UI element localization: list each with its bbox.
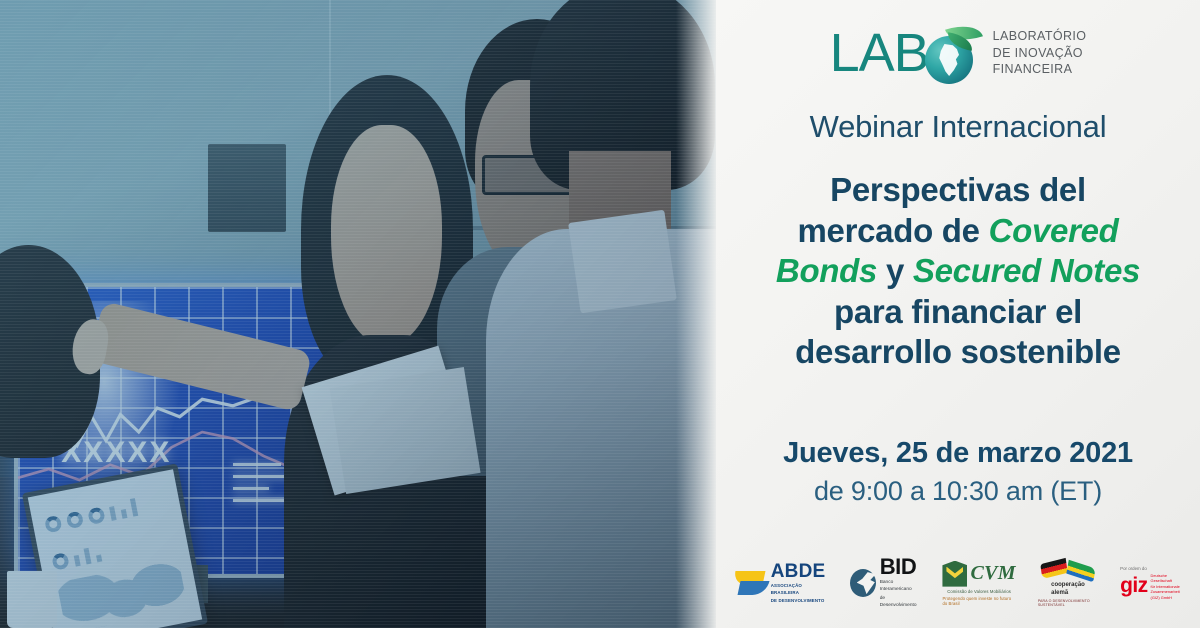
sponsor-logo-row: ABDE ASSOCIAÇÃO BRASILEIRA DE DESENVOLVI… bbox=[716, 556, 1200, 610]
bid-tagline-2: de Desenvolvimento bbox=[880, 596, 921, 610]
info-panel: LAB Laboratório de Inovação Financeira W… bbox=[716, 0, 1200, 628]
cvm-tagline-1: Comissão de Valores Mobiliários bbox=[947, 589, 1011, 594]
headline-term-covered: Covered bbox=[989, 212, 1119, 249]
headline-line-2-plain: mercado de bbox=[797, 212, 988, 249]
abde-name: ABDE bbox=[771, 562, 828, 581]
coop-name-line-2: alemã bbox=[1051, 590, 1085, 598]
photo-right-fade bbox=[676, 0, 716, 628]
page-title: Perspectivas del mercado de Covered Bond… bbox=[776, 170, 1140, 373]
cvm-mark-icon bbox=[942, 561, 967, 587]
sponsor-logo-cooperacao-alema[interactable]: cooperação alemã PARA O DESENVOLVIMENTO … bbox=[1038, 559, 1098, 607]
globe-leaf-icon bbox=[925, 22, 983, 84]
bid-mark-icon bbox=[850, 569, 876, 597]
abde-tagline-1: ASSOCIAÇÃO BRASILEIRA bbox=[771, 583, 828, 595]
headline-line-1: Perspectivas del bbox=[830, 171, 1086, 208]
headline-term-secured-notes: Secured Notes bbox=[913, 252, 1140, 289]
lab-subtitle-line-3: Financeira bbox=[993, 61, 1087, 78]
coop-name-line-1: cooperação bbox=[1051, 582, 1085, 590]
sponsor-logo-giz[interactable]: Por ordem do giz Deutsche Gesellschaft f… bbox=[1120, 566, 1182, 600]
lab-logo: LAB Laboratório de Inovação Financeira bbox=[830, 20, 1087, 86]
sponsor-logo-cvm[interactable]: CVM Comissão de Valores Mobiliários Prot… bbox=[942, 561, 1015, 606]
sponsor-logo-abde[interactable]: ABDE ASSOCIAÇÃO BRASILEIRA DE DESENVOLVI… bbox=[734, 562, 828, 603]
lab-wordmark: LAB bbox=[830, 26, 929, 80]
headline-term-bonds: Bonds bbox=[776, 252, 877, 289]
cvm-name: CVM bbox=[970, 562, 1015, 585]
lab-subtitle-line-1: Laboratório bbox=[993, 28, 1087, 45]
headline-line-4: para financiar el bbox=[834, 293, 1082, 330]
giz-name: giz bbox=[1120, 577, 1147, 596]
cvm-tagline-2: Protegendo quem investe no futuro do Bra… bbox=[942, 596, 1015, 606]
coop-tagline: PARA O DESENVOLVIMENTO SUSTENTÁVEL bbox=[1038, 599, 1098, 607]
photo-grain-overlay bbox=[0, 0, 716, 628]
lab-subtitle-line-2: de Inovação bbox=[993, 45, 1087, 62]
event-datetime: Jueves, 25 de marzo 2021 de 9:00 a 10:30… bbox=[783, 437, 1133, 507]
lab-subtitle: Laboratório de Inovação Financeira bbox=[993, 28, 1087, 78]
bid-tagline-1: Banco Interamericano bbox=[880, 580, 921, 594]
webinar-banner: XXXXX bbox=[0, 0, 1200, 628]
sponsor-logo-bid[interactable]: BID Banco Interamericano de Desenvolvime… bbox=[850, 556, 921, 610]
bid-name: BID bbox=[880, 556, 921, 578]
headline-conjunction: y bbox=[877, 252, 913, 289]
event-type-label: Webinar Internacional bbox=[810, 110, 1107, 144]
abde-tagline-2: DE DESENVOLVIMENTO bbox=[771, 598, 828, 604]
event-time: de 9:00 a 10:30 am (ET) bbox=[783, 476, 1133, 507]
giz-commissioned-by-label: Por ordem do bbox=[1120, 566, 1147, 571]
german-brazil-flag-ribbon-icon bbox=[1041, 559, 1095, 581]
headline-line-5: desarrollo sostenible bbox=[795, 333, 1121, 370]
giz-tagline-3: Zusammenarbeit (GIZ) GmbH bbox=[1151, 589, 1182, 600]
giz-tagline-1: Deutsche Gesellschaft bbox=[1151, 573, 1182, 584]
abde-mark-icon bbox=[734, 570, 766, 596]
hero-photo: XXXXX bbox=[0, 0, 716, 628]
event-date: Jueves, 25 de marzo 2021 bbox=[783, 437, 1133, 470]
